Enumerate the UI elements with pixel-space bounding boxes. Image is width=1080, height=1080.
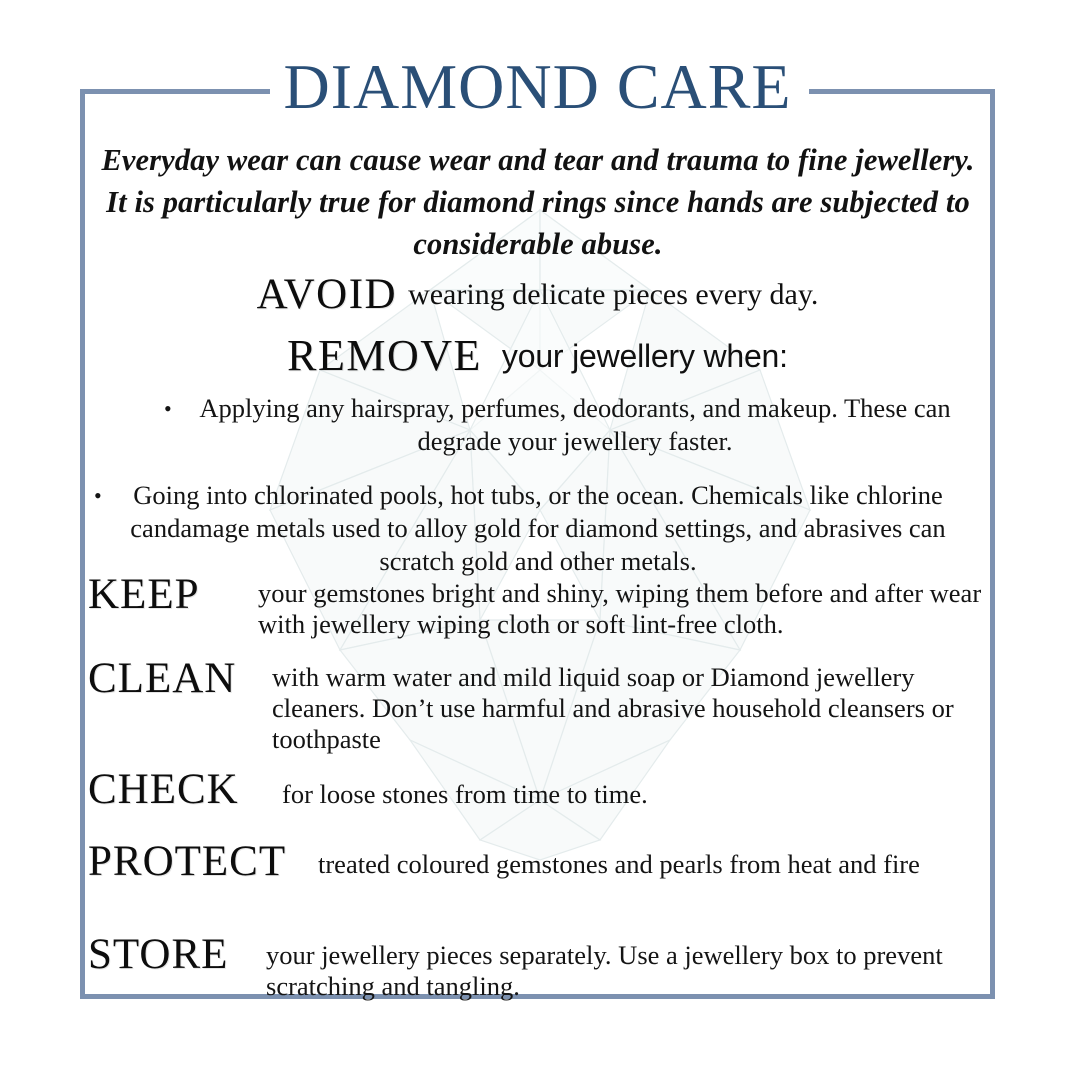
avoid-text: wearing delicate pieces every day. [397, 278, 818, 311]
remove-section: REMOVEyour jewellery when: [80, 330, 995, 381]
clean-keyword: CLEAN [88, 656, 288, 702]
avoid-section: AVOIDwearing delicate pieces every day. [80, 270, 995, 319]
page-title-text: DIAMOND CARE [270, 51, 806, 122]
remove-text: your jewellery when: [482, 338, 788, 374]
remove-keyword: REMOVE [287, 331, 482, 380]
check-text: for loose stones from time to time. [282, 779, 982, 810]
protect-text: treated coloured gemstones and pearls fr… [318, 849, 978, 880]
keep-text: your gemstones bright and shiny, wiping … [258, 578, 988, 640]
check-keyword: CHECK [88, 767, 288, 813]
list-item-text: Going into chlorinated pools, hot tubs, … [130, 480, 945, 576]
clean-text: with warm water and mild liquid soap or … [272, 662, 992, 755]
list-item: • Going into chlorinated pools, hot tubs… [98, 479, 978, 578]
remove-bullet-list: • Applying any hairspray, perfumes, deod… [80, 392, 995, 578]
bullet-marker-icon: • [164, 392, 172, 425]
store-keyword: STORE [88, 932, 288, 978]
intro-paragraph: Everyday wear can cause wear and tear an… [98, 139, 978, 265]
avoid-keyword: AVOID [257, 271, 398, 318]
store-text: your jewellery pieces separately. Use a … [266, 940, 981, 1002]
diamond-care-poster: DIAMOND CARE Everyday wear can cause wea… [0, 0, 1080, 1080]
list-item-text: Applying any hairspray, perfumes, deodor… [199, 393, 950, 456]
list-item: • Applying any hairspray, perfumes, deod… [172, 392, 978, 458]
protect-keyword: PROTECT [88, 839, 288, 885]
poster-content: DIAMOND CARE Everyday wear can cause wea… [80, 89, 995, 999]
page-title: DIAMOND CARE [80, 53, 995, 121]
bullet-marker-icon: • [94, 479, 102, 512]
